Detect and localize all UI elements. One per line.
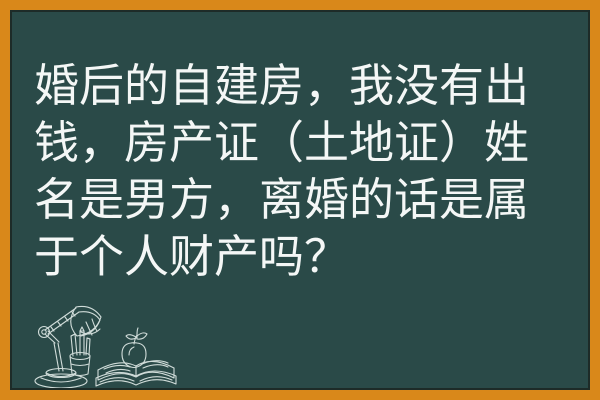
chalk-illustration: [24, 298, 199, 388]
open-book-icon: [96, 361, 176, 386]
apple-icon: [122, 328, 147, 368]
chalkboard-panel: 婚后的自建房，我没有出钱，房产证（土地证）姓名是男方，离婚的话是属于个人财产吗？: [12, 12, 588, 388]
page-title: 婚后的自建房，我没有出钱，房产证（土地证）姓名是男方，离婚的话是属于个人财产吗？: [34, 57, 548, 285]
question-card: 婚后的自建房，我没有出钱，房产证（土地证）姓名是男方，离婚的话是属于个人财产吗？: [0, 0, 600, 400]
desk-lamp-icon: [35, 306, 101, 388]
desk-scene-drawing: [24, 298, 199, 388]
